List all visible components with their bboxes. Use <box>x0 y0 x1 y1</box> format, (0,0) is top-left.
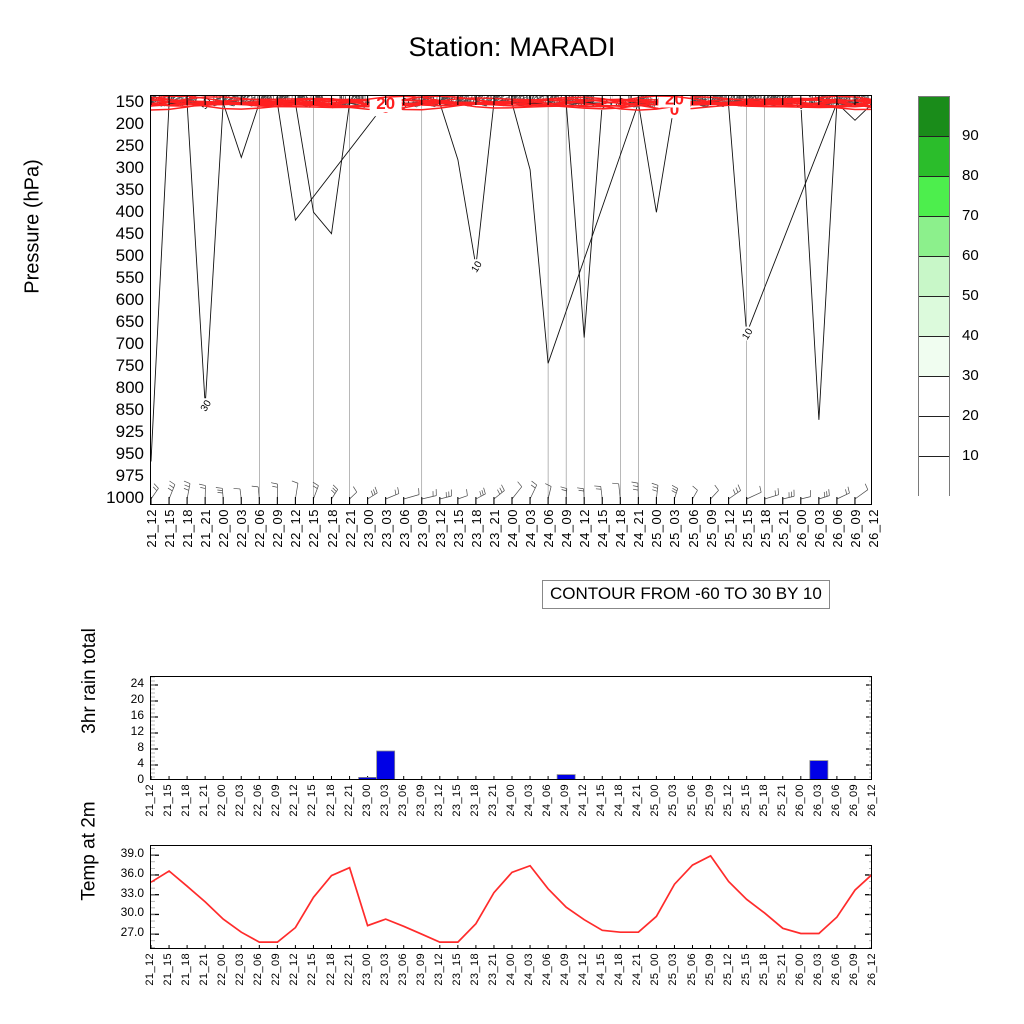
contour-note: CONTOUR FROM -60 TO 30 BY 10 <box>542 580 830 609</box>
time-tick-label: 23_12 <box>433 509 448 548</box>
time-tick-label: 24_15 <box>595 509 610 548</box>
colorbar-band <box>919 377 949 417</box>
time-tick-label: 24_09 <box>559 509 574 548</box>
pressure-tick-label: 925 <box>116 423 144 440</box>
colorbar-band <box>919 97 949 137</box>
time-tick-label: 25_09 <box>704 509 719 548</box>
time-tick-label: 25_15 <box>740 953 752 986</box>
colorbar-band <box>919 337 949 377</box>
time-tick-label: 21_12 <box>144 953 156 986</box>
pressure-tick-label: 200 <box>116 115 144 132</box>
time-tick-label: 23_00 <box>361 953 373 986</box>
time-tick-label: 23_06 <box>397 953 409 986</box>
time-tick-label: 25_00 <box>649 509 664 548</box>
time-tick-label: 23_03 <box>379 953 391 986</box>
time-tick-label: 26_03 <box>812 953 824 986</box>
time-height-cross-section[interactable]: 10101030303030505050507070-40-40-20-2000… <box>150 95 872 505</box>
time-tick-label: 24_12 <box>577 953 589 986</box>
colorbar-tick-label: 40 <box>962 327 979 344</box>
time-tick-label: 25_21 <box>776 784 788 817</box>
pressure-tick-label: 700 <box>116 335 144 352</box>
rain-tick-label: 4 <box>137 757 144 769</box>
time-tick-label: 22_12 <box>288 784 300 817</box>
meteogram-page: Station: MARADI Pressure (hPa) 150200250… <box>0 0 1024 1024</box>
time-tick-label: 22_03 <box>234 784 246 817</box>
time-tick-label: 24_09 <box>559 953 571 986</box>
time-tick-label: 21_12 <box>144 509 159 548</box>
rain-tick-label: 12 <box>131 725 144 737</box>
time-tick-label: 21_15 <box>162 784 174 817</box>
time-tick-label: 23_09 <box>415 953 427 986</box>
time-tick-label: 26_06 <box>830 784 842 817</box>
time-tick-label: 22_09 <box>270 509 285 548</box>
main-x-axis-labels: 21_1221_1521_1821_2122_0022_0322_0622_09… <box>150 509 872 575</box>
pressure-axis-title: Pressure (hPa) <box>22 102 45 352</box>
pressure-tick-label: 1000 <box>106 489 144 506</box>
colorbar-tick-label: 50 <box>962 287 979 304</box>
time-tick-label: 25_00 <box>649 953 661 986</box>
colorbar-band <box>919 217 949 257</box>
time-tick-label: 25_21 <box>776 509 791 548</box>
time-tick-label: 24_06 <box>541 509 556 548</box>
pressure-tick-label: 800 <box>116 379 144 396</box>
time-tick-label: 22_03 <box>234 953 246 986</box>
time-tick-label: 26_12 <box>866 953 878 986</box>
rain-y-axis-labels: 24201612840 <box>96 676 144 780</box>
time-tick-label: 21_18 <box>180 953 192 986</box>
time-tick-label: 25_18 <box>758 509 773 548</box>
colorbar-tick-label: 10 <box>962 447 979 464</box>
time-tick-label: 23_03 <box>379 784 391 817</box>
pressure-tick-label: 650 <box>116 313 144 330</box>
time-tick-label: 24_18 <box>613 953 625 986</box>
time-tick-label: 23_21 <box>487 784 499 817</box>
time-tick-label: 26_06 <box>830 509 845 548</box>
rain-tick-label: 24 <box>131 677 144 689</box>
temp-x-axis-labels: 21_1221_1521_1821_2122_0022_0322_0622_09… <box>150 953 872 1011</box>
rain-tick-label: 8 <box>137 741 144 753</box>
time-tick-label: 26_09 <box>848 953 860 986</box>
time-tick-label: 24_03 <box>523 509 538 548</box>
time-tick-label: 25_15 <box>740 509 755 548</box>
temp-tick-label: 36.0 <box>121 867 144 879</box>
time-tick-label: 26_03 <box>812 784 824 817</box>
time-tick-label: 23_21 <box>487 509 502 548</box>
time-tick-label: 25_00 <box>649 784 661 817</box>
time-tick-label: 25_06 <box>686 953 698 986</box>
time-tick-label: 25_18 <box>758 784 770 817</box>
time-tick-label: 26_00 <box>794 784 806 817</box>
time-tick-label: 24_21 <box>631 509 646 548</box>
pressure-axis-labels: 1502002503003504004505005506006507007508… <box>60 95 144 505</box>
colorbar-tick-label: 30 <box>962 367 979 384</box>
time-tick-label: 23_03 <box>379 509 394 548</box>
time-tick-label: 22_09 <box>270 784 282 817</box>
time-tick-label: 26_09 <box>848 784 860 817</box>
time-tick-label: 22_00 <box>216 953 228 986</box>
time-tick-label: 24_21 <box>631 953 643 986</box>
time-tick-label: 21_18 <box>180 509 195 548</box>
time-tick-label: 26_03 <box>812 509 827 548</box>
time-tick-label: 23_00 <box>361 509 376 548</box>
time-tick-label: 22_15 <box>306 509 321 548</box>
time-tick-label: 22_21 <box>343 509 358 548</box>
pressure-tick-label: 975 <box>116 467 144 484</box>
temp-tick-label: 33.0 <box>121 887 144 899</box>
time-tick-label: 24_06 <box>541 784 553 817</box>
rain-x-axis-labels: 21_1221_1521_1821_2122_0022_0322_0622_09… <box>150 784 872 842</box>
time-tick-label: 26_12 <box>866 509 881 548</box>
temp-tick-label: 27.0 <box>121 926 144 938</box>
time-tick-label: 22_15 <box>306 953 318 986</box>
time-tick-label: 25_03 <box>667 784 679 817</box>
temp-y-axis-labels: 39.036.033.030.027.0 <box>86 845 144 949</box>
time-tick-label: 23_21 <box>487 953 499 986</box>
rain-tick-label: 20 <box>131 693 144 705</box>
time-tick-label: 25_12 <box>722 509 737 548</box>
pressure-tick-label: 750 <box>116 357 144 374</box>
colorbar-band <box>919 417 949 457</box>
time-tick-label: 22_15 <box>306 784 318 817</box>
rain-chart-svg <box>151 677 872 780</box>
time-tick-label: 24_12 <box>577 784 589 817</box>
temperature-chart[interactable] <box>150 845 872 949</box>
humidity-colorbar[interactable] <box>918 96 950 496</box>
pressure-tick-label: 950 <box>116 445 144 462</box>
pressure-tick-label: 300 <box>116 159 144 176</box>
colorbar-tick-label: 20 <box>962 407 979 424</box>
time-tick-label: 23_09 <box>415 784 427 817</box>
colorbar-band <box>919 137 949 177</box>
time-tick-label: 25_12 <box>722 953 734 986</box>
pressure-tick-label: 450 <box>116 225 144 242</box>
time-tick-label: 26_09 <box>848 509 863 548</box>
time-tick-label: 24_00 <box>505 509 520 548</box>
time-tick-label: 24_00 <box>505 784 517 817</box>
colorbar-tick-label: 70 <box>962 207 979 224</box>
time-tick-label: 24_15 <box>595 953 607 986</box>
pressure-tick-label: 600 <box>116 291 144 308</box>
colorbar-band <box>919 177 949 217</box>
time-tick-label: 22_06 <box>252 953 264 986</box>
pressure-tick-label: 350 <box>116 181 144 198</box>
time-tick-label: 21_21 <box>198 953 210 986</box>
time-tick-label: 22_00 <box>216 509 231 548</box>
pressure-tick-label: 550 <box>116 269 144 286</box>
time-tick-label: 21_15 <box>162 509 177 548</box>
colorbar-band <box>919 257 949 297</box>
time-tick-label: 21_18 <box>180 784 192 817</box>
pressure-tick-label: 250 <box>116 137 144 154</box>
cross-section-svg: 10101030303030505050507070-40-40-20-2000… <box>151 96 872 505</box>
time-tick-label: 23_09 <box>415 509 430 548</box>
temperature-chart-svg <box>151 846 872 949</box>
time-tick-label: 26_06 <box>830 953 842 986</box>
time-tick-label: 22_00 <box>216 784 228 817</box>
time-tick-label: 22_12 <box>288 509 303 548</box>
time-tick-label: 25_18 <box>758 953 770 986</box>
time-tick-label: 22_06 <box>252 509 267 548</box>
time-tick-label: 23_18 <box>469 953 481 986</box>
time-tick-label: 23_12 <box>433 784 445 817</box>
time-tick-label: 24_21 <box>631 784 643 817</box>
time-tick-label: 25_06 <box>686 509 701 548</box>
time-tick-label: 22_21 <box>343 953 355 986</box>
page-title: Station: MARADI <box>0 32 1024 63</box>
time-tick-label: 26_00 <box>794 953 806 986</box>
time-tick-label: 24_03 <box>523 953 535 986</box>
temp-tick-label: 39.0 <box>121 847 144 859</box>
temp-tick-label: 30.0 <box>121 906 144 918</box>
time-tick-label: 21_15 <box>162 953 174 986</box>
time-tick-label: 22_06 <box>252 784 264 817</box>
rain-tick-label: 16 <box>131 709 144 721</box>
time-tick-label: 23_12 <box>433 953 445 986</box>
time-tick-label: 21_21 <box>198 784 210 817</box>
time-tick-label: 24_18 <box>613 509 628 548</box>
time-tick-label: 23_15 <box>451 784 463 817</box>
pressure-tick-label: 150 <box>116 93 144 110</box>
colorbar-tick-label: 60 <box>962 247 979 264</box>
time-tick-label: 24_18 <box>613 784 625 817</box>
time-tick-label: 26_12 <box>866 784 878 817</box>
colorbar-tick-label: 80 <box>962 167 979 184</box>
rain-tick-label: 0 <box>137 773 144 785</box>
time-tick-label: 25_12 <box>722 784 734 817</box>
time-tick-label: 24_00 <box>505 953 517 986</box>
time-tick-label: 22_18 <box>325 509 340 548</box>
time-tick-label: 22_18 <box>325 953 337 986</box>
time-tick-label: 24_09 <box>559 784 571 817</box>
colorbar-band <box>919 297 949 337</box>
time-tick-label: 21_21 <box>198 509 213 548</box>
time-tick-label: 22_12 <box>288 953 300 986</box>
time-tick-label: 25_09 <box>704 784 716 817</box>
time-tick-label: 25_06 <box>686 784 698 817</box>
colorbar-band <box>919 457 949 497</box>
time-tick-label: 26_00 <box>794 509 809 548</box>
pressure-tick-label: 500 <box>116 247 144 264</box>
time-tick-label: 22_09 <box>270 953 282 986</box>
time-tick-label: 23_06 <box>397 784 409 817</box>
time-tick-label: 25_03 <box>667 953 679 986</box>
time-tick-label: 24_15 <box>595 784 607 817</box>
time-tick-label: 24_03 <box>523 784 535 817</box>
time-tick-label: 24_12 <box>577 509 592 548</box>
time-tick-label: 25_03 <box>667 509 682 548</box>
time-tick-label: 23_06 <box>397 509 412 548</box>
time-tick-label: 22_03 <box>234 509 249 548</box>
time-tick-label: 23_15 <box>451 509 466 548</box>
time-tick-label: 23_18 <box>469 509 484 548</box>
time-tick-label: 25_09 <box>704 953 716 986</box>
time-tick-label: 25_21 <box>776 953 788 986</box>
time-tick-label: 23_18 <box>469 784 481 817</box>
time-tick-label: 22_21 <box>343 784 355 817</box>
rain-chart[interactable] <box>150 676 872 780</box>
time-tick-label: 23_00 <box>361 784 373 817</box>
pressure-tick-label: 850 <box>116 401 144 418</box>
time-tick-label: 23_15 <box>451 953 463 986</box>
time-tick-label: 24_06 <box>541 953 553 986</box>
time-tick-label: 25_15 <box>740 784 752 817</box>
pressure-tick-label: 400 <box>116 203 144 220</box>
time-tick-label: 21_12 <box>144 784 156 817</box>
colorbar-tick-label: 90 <box>962 127 979 144</box>
time-tick-label: 22_18 <box>325 784 337 817</box>
